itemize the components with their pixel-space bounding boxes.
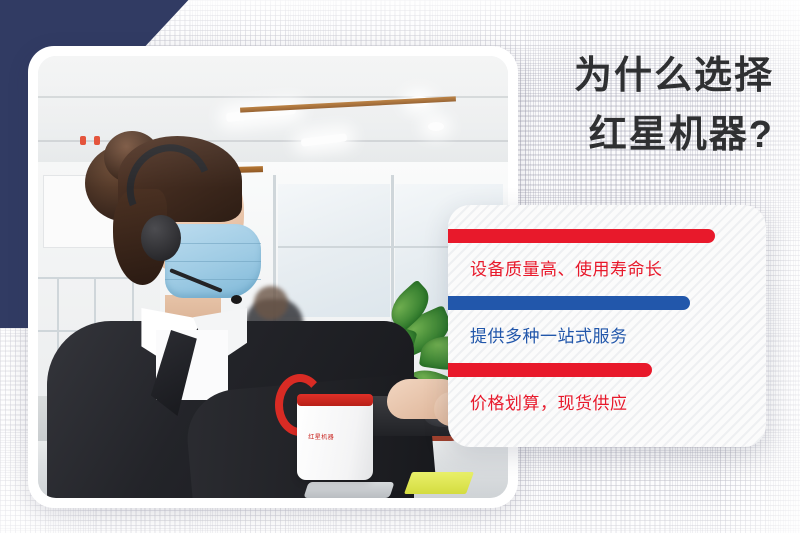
- feature-bar-1: [448, 229, 715, 243]
- feature-label-2: 提供多种一站式服务: [470, 322, 766, 347]
- promo-banner: 红星机器 为什么选择 红星机器? 设备质量高、使用寿命长 提供多种一站式服务 价…: [0, 0, 800, 533]
- list-item: 提供多种一站式服务: [448, 296, 766, 347]
- title-line-1: 为什么选择: [518, 52, 774, 101]
- feature-label-3: 价格划算，现货供应: [470, 389, 766, 414]
- list-item: 价格划算，现货供应: [448, 363, 766, 414]
- feature-bar-2: [448, 296, 690, 310]
- title-line-2: 红星机器?: [518, 111, 774, 160]
- feature-bar-3: [448, 363, 652, 377]
- office-photo: 红星机器: [38, 56, 508, 498]
- feature-list: 设备质量高、使用寿命长 提供多种一站式服务 价格划算，现货供应: [448, 205, 766, 414]
- feature-label-1: 设备质量高、使用寿命长: [470, 255, 766, 280]
- features-card: 设备质量高、使用寿命长 提供多种一站式服务 价格划算，现货供应: [448, 205, 766, 447]
- page-title: 为什么选择 红星机器?: [518, 52, 774, 159]
- list-item: 设备质量高、使用寿命长: [448, 229, 766, 280]
- photo-card: 红星机器: [28, 46, 518, 508]
